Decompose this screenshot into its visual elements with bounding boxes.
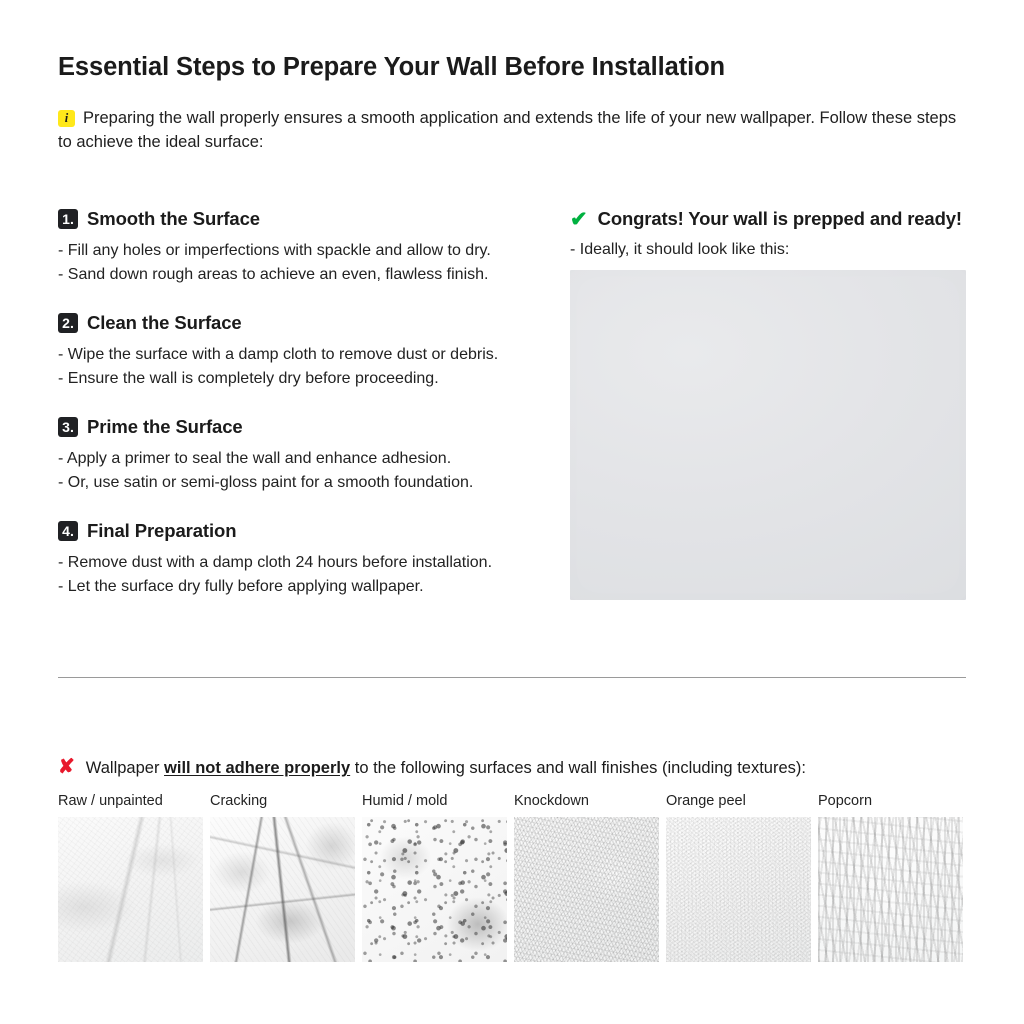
step-heading: 4. Final Preparation <box>58 520 570 542</box>
thumbnail-image-knockdown <box>514 817 659 962</box>
thumbnail-cell: Popcorn <box>818 792 963 962</box>
intro-paragraph: iPreparing the wall properly ensures a s… <box>58 106 968 154</box>
good-subtitle: - Ideally, it should look like this: <box>570 238 968 262</box>
steps-column: 1. Smooth the Surface - Fill any holes o… <box>58 208 570 600</box>
unsuitable-heading: ✘ Wallpaper will not adhere properly to … <box>58 757 968 778</box>
step-line: - Or, use satin or semi-gloss paint for … <box>58 471 570 495</box>
step-number-badge: 2. <box>58 313 78 333</box>
good-heading: ✔ Congrats! Your wall is prepped and rea… <box>570 208 968 230</box>
thumbnail-image-cracking <box>210 817 355 962</box>
step-title: Clean the Surface <box>87 312 242 334</box>
step-line: - Apply a primer to seal the wall and en… <box>58 447 570 471</box>
step-title: Smooth the Surface <box>87 208 260 230</box>
step-title: Prime the Surface <box>87 416 243 438</box>
step-item: 3. Prime the Surface - Apply a primer to… <box>58 416 570 494</box>
unsuitable-title-after: to the following surfaces and wall finis… <box>350 759 806 777</box>
wall-prep-guide-page: Essential Steps to Prepare Your Wall Bef… <box>0 0 1024 1024</box>
thumbnail-label: Cracking <box>210 792 355 810</box>
step-number-badge: 4. <box>58 521 78 541</box>
step-title: Final Preparation <box>87 520 236 542</box>
unsuitable-title: Wallpaper will not adhere properly to th… <box>86 759 806 778</box>
thumbnail-image-raw-unpainted <box>58 817 203 962</box>
thumbnail-label: Knockdown <box>514 792 659 810</box>
good-title: Congrats! Your wall is prepped and ready… <box>598 208 962 230</box>
step-item: 1. Smooth the Surface - Fill any holes o… <box>58 208 570 286</box>
step-line: - Wipe the surface with a damp cloth to … <box>58 343 570 367</box>
step-heading: 3. Prime the Surface <box>58 416 570 438</box>
intro-text: Preparing the wall properly ensures a sm… <box>58 109 956 151</box>
info-icon: i <box>58 110 75 127</box>
step-heading: 2. Clean the Surface <box>58 312 570 334</box>
page-title: Essential Steps to Prepare Your Wall Bef… <box>58 53 725 82</box>
thumbnail-cell: Knockdown <box>514 792 659 962</box>
step-line: - Let the surface dry fully before apply… <box>58 575 570 599</box>
step-line: - Ensure the wall is completely dry befo… <box>58 367 570 391</box>
check-icon: ✔ <box>570 209 588 230</box>
step-item: 4. Final Preparation - Remove dust with … <box>58 520 570 598</box>
thumbnail-cell: Humid / mold <box>362 792 507 962</box>
thumbnail-image-humid-mold <box>362 817 507 962</box>
step-number-badge: 1. <box>58 209 78 229</box>
step-line: - Remove dust with a damp cloth 24 hours… <box>58 551 570 575</box>
thumbnail-cell: Raw / unpainted <box>58 792 203 962</box>
thumbnail-image-orange-peel <box>666 817 811 962</box>
smooth-wall-sample-image <box>570 270 966 600</box>
step-item: 2. Clean the Surface - Wipe the surface … <box>58 312 570 390</box>
thumbnail-cell: Cracking <box>210 792 355 962</box>
thumbnail-label: Orange peel <box>666 792 811 810</box>
content-columns: 1. Smooth the Surface - Fill any holes o… <box>58 208 968 600</box>
thumbnail-image-popcorn <box>818 817 963 962</box>
unsuitable-thumbnail-row: Raw / unpainted Cracking Humid / mold Kn… <box>58 792 968 962</box>
step-line: - Sand down rough areas to achieve an ev… <box>58 263 570 287</box>
thumbnail-label: Raw / unpainted <box>58 792 203 810</box>
thumbnail-label: Humid / mold <box>362 792 507 810</box>
unsuitable-title-emphasis: will not adhere properly <box>164 759 350 777</box>
unsuitable-title-before: Wallpaper <box>86 759 164 777</box>
step-line: - Fill any holes or imperfections with s… <box>58 239 570 263</box>
step-number-badge: 3. <box>58 417 78 437</box>
section-divider <box>58 677 966 678</box>
thumbnail-cell: Orange peel <box>666 792 811 962</box>
step-heading: 1. Smooth the Surface <box>58 208 570 230</box>
thumbnail-label: Popcorn <box>818 792 963 810</box>
x-icon: ✘ <box>58 757 75 777</box>
good-surface-column: ✔ Congrats! Your wall is prepped and rea… <box>570 208 968 600</box>
unsuitable-surfaces-section: ✘ Wallpaper will not adhere properly to … <box>58 757 968 962</box>
